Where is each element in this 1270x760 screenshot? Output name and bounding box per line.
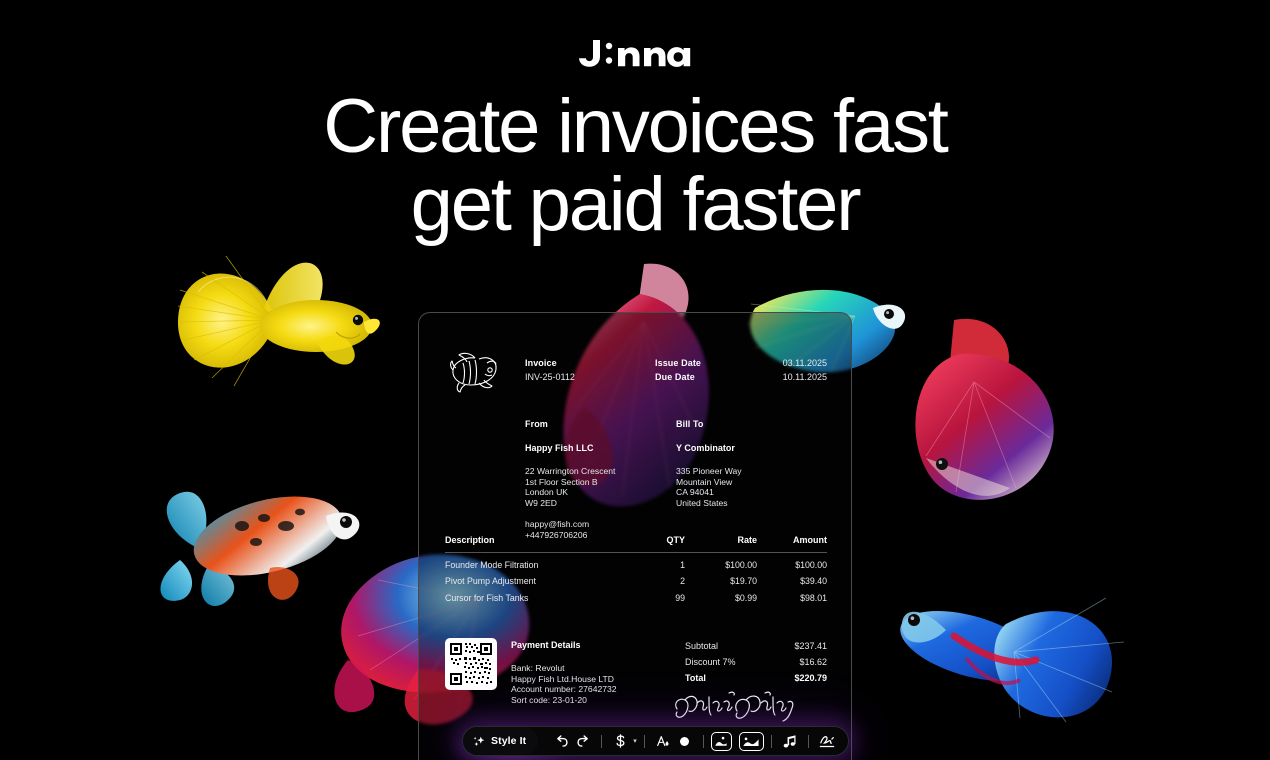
payment-bank: Bank: Revolut bbox=[511, 663, 669, 674]
from-address-line: London UK bbox=[525, 487, 676, 498]
from-address-line: W9 2ED bbox=[525, 498, 676, 509]
column-header-qty: QTY bbox=[623, 535, 685, 552]
cell-qty: 99 bbox=[623, 593, 685, 603]
payment-sort-code: Sort code: 23-01-20 bbox=[511, 695, 669, 706]
from-address-line: 1st Floor Section B bbox=[525, 477, 676, 488]
bill-to-address-line: 335 Pioneer Way bbox=[676, 466, 827, 477]
total-label: Total bbox=[685, 670, 706, 686]
toolbar-divider bbox=[703, 735, 704, 748]
total-row-discount: Discount 7% $16.62 bbox=[685, 654, 827, 670]
fish-red-white-betta bbox=[900, 310, 1085, 525]
bill-to-address-line: CA 94041 bbox=[676, 487, 827, 498]
undo-button[interactable] bbox=[550, 730, 572, 752]
cell-amount: $39.40 bbox=[757, 576, 827, 586]
fish-yellow-halfmoon-betta bbox=[168, 248, 392, 394]
total-row-subtotal: Subtotal $237.41 bbox=[685, 638, 827, 654]
cell-description: Cursor for Fish Tanks bbox=[445, 593, 623, 603]
table-header-row: Description QTY Rate Amount bbox=[445, 535, 827, 552]
image-landscape-icon bbox=[743, 736, 759, 747]
from-name: Happy Fish LLC bbox=[525, 441, 676, 455]
toolbar-divider bbox=[771, 735, 772, 748]
color-circle-icon bbox=[680, 737, 689, 746]
table-row[interactable]: Pivot Pump Adjustment 2 $19.70 $39.40 bbox=[445, 570, 827, 587]
landing-page: Create invoices fast get paid faster bbox=[0, 0, 1270, 760]
toolbar-divider bbox=[644, 735, 645, 748]
handwritten-signature bbox=[671, 689, 801, 725]
text-color-droplet-icon bbox=[656, 734, 670, 749]
due-date-label: Due Date bbox=[655, 370, 741, 384]
qr-code-icon[interactable] bbox=[445, 638, 497, 690]
fish-blue-red-betta bbox=[880, 568, 1132, 743]
column-header-amount: Amount bbox=[757, 535, 827, 552]
music-button[interactable] bbox=[779, 730, 801, 752]
discount-value: $16.62 bbox=[799, 654, 827, 670]
payment-details: Payment Details Bank: Revolut Happy Fish… bbox=[511, 638, 669, 705]
invoice-number: INV-25-0112 bbox=[525, 370, 655, 384]
bill-to-name: Y Combinator bbox=[676, 441, 827, 455]
cell-qty: 2 bbox=[623, 576, 685, 586]
from-block: From Happy Fish LLC 22 Warrington Cresce… bbox=[525, 417, 676, 541]
editor-toolbar[interactable]: Style It bbox=[462, 726, 849, 756]
invoice-header: Invoice INV-25-0112 Issue Date Due Date … bbox=[525, 356, 827, 384]
color-swatch-button[interactable] bbox=[674, 730, 696, 752]
cell-amount: $98.01 bbox=[757, 593, 827, 603]
table-row[interactable]: Cursor for Fish Tanks 99 $0.99 $98.01 bbox=[445, 586, 827, 603]
bill-to-block: Bill To Y Combinator 335 Pioneer Way Mou… bbox=[676, 417, 827, 541]
bill-to-address-line: United States bbox=[676, 498, 827, 509]
cell-rate: $19.70 bbox=[685, 576, 757, 586]
cell-amount: $100.00 bbox=[757, 560, 827, 570]
subtotal-label: Subtotal bbox=[685, 638, 718, 654]
invoice-card[interactable]: Invoice INV-25-0112 Issue Date Due Date … bbox=[418, 312, 852, 760]
total-row-total: Total $220.79 bbox=[685, 670, 827, 686]
headline-line-1: Create invoices fast bbox=[323, 84, 946, 169]
brand-logo[interactable] bbox=[0, 38, 1270, 68]
parties-section: From Happy Fish LLC 22 Warrington Cresce… bbox=[525, 417, 827, 541]
fish-line-art-icon bbox=[449, 349, 501, 395]
subtotal-value: $237.41 bbox=[794, 638, 827, 654]
from-address-line: 22 Warrington Crescent bbox=[525, 466, 676, 477]
fish-koi-betta-orange-blue bbox=[150, 430, 380, 620]
music-note-icon bbox=[783, 734, 797, 749]
jnna-wordmark-icon bbox=[579, 38, 691, 68]
bill-to-label: Bill To bbox=[676, 417, 827, 431]
image-landscape-button[interactable] bbox=[739, 732, 764, 751]
payment-account: Account number: 27642732 bbox=[511, 684, 669, 695]
column-header-rate: Rate bbox=[685, 535, 757, 552]
table-row[interactable]: Founder Mode Filtration 1 $100.00 $100.0… bbox=[445, 553, 827, 570]
toolbar-divider bbox=[808, 735, 809, 748]
currency-dollar-icon[interactable] bbox=[609, 730, 631, 752]
cell-rate: $100.00 bbox=[685, 560, 757, 570]
issue-date-value: 03.11.2025 bbox=[741, 356, 827, 370]
page-title: Create invoices fast get paid faster bbox=[0, 88, 1270, 244]
payment-holder: Happy Fish Ltd.House LTD bbox=[511, 674, 669, 685]
image-portrait-icon bbox=[715, 735, 727, 747]
payment-details-title: Payment Details bbox=[511, 638, 669, 652]
cell-description: Pivot Pump Adjustment bbox=[445, 576, 623, 586]
from-label: From bbox=[525, 417, 676, 431]
column-header-description: Description bbox=[445, 535, 623, 552]
discount-label: Discount 7% bbox=[685, 654, 736, 670]
toolbar-divider bbox=[601, 735, 602, 748]
style-it-button[interactable]: Style It bbox=[463, 727, 538, 755]
total-value: $220.79 bbox=[794, 670, 827, 686]
cell-qty: 1 bbox=[623, 560, 685, 570]
invoice-label: Invoice bbox=[525, 356, 655, 370]
cell-description: Founder Mode Filtration bbox=[445, 560, 623, 570]
signature-pen-icon bbox=[819, 734, 835, 749]
sparkles-icon bbox=[473, 735, 486, 748]
text-color-button[interactable] bbox=[652, 730, 674, 752]
style-it-label: Style It bbox=[491, 735, 526, 747]
due-date-value: 10.11.2025 bbox=[741, 370, 827, 384]
currency-selector[interactable]: ▾ bbox=[609, 730, 637, 752]
image-portrait-button[interactable] bbox=[711, 732, 732, 751]
cell-rate: $0.99 bbox=[685, 593, 757, 603]
chevron-down-icon[interactable]: ▾ bbox=[633, 737, 637, 745]
from-email: happy@fish.com bbox=[525, 519, 676, 530]
line-items-table: Description QTY Rate Amount Founder Mode… bbox=[445, 535, 827, 603]
undo-arrow-icon bbox=[554, 734, 569, 749]
signature-tool-button[interactable] bbox=[816, 730, 838, 752]
issue-date-label: Issue Date bbox=[655, 356, 741, 370]
headline-line-2: get paid faster bbox=[0, 166, 1270, 244]
redo-button[interactable] bbox=[572, 730, 594, 752]
redo-arrow-icon bbox=[576, 734, 591, 749]
bill-to-address-line: Mountain View bbox=[676, 477, 827, 488]
